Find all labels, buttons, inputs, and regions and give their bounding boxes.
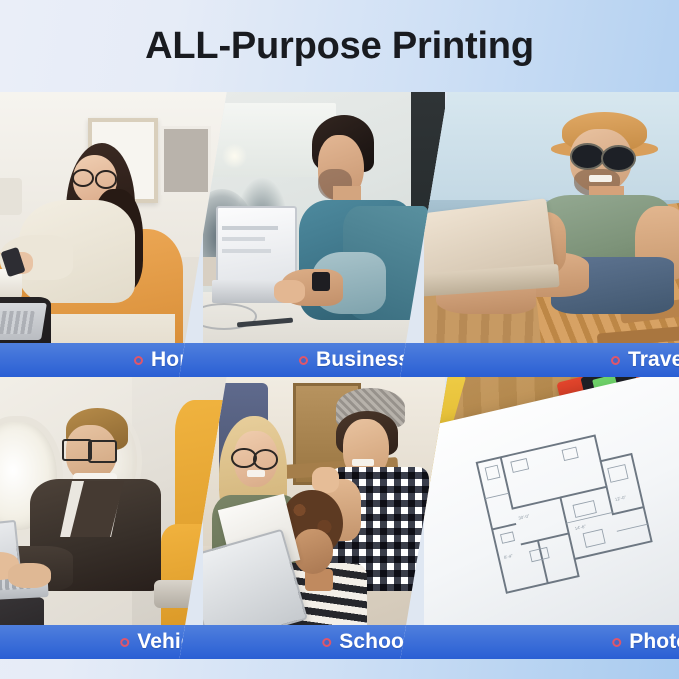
panel-label-school: School bbox=[340, 630, 411, 654]
panel-label-business: Business bbox=[316, 348, 410, 372]
caption-bar-business: Business bbox=[179, 343, 427, 377]
svg-text:30’-0”: 30’-0” bbox=[518, 513, 531, 521]
panel-label-travel: Travel bbox=[628, 348, 679, 372]
panel-photo-photo: 30’-0” 14’-6” 12’-0” 8’-4” bbox=[424, 377, 679, 659]
panel-row-bottom: Vehicle bbox=[0, 377, 679, 659]
ring-bullet-icon bbox=[134, 356, 143, 365]
ring-bullet-icon bbox=[323, 638, 332, 647]
panel-label-photo: Photo bbox=[629, 630, 679, 654]
svg-text:12’-0”: 12’-0” bbox=[614, 494, 627, 502]
scene-travel bbox=[424, 92, 679, 377]
caption-bar-travel: Travel bbox=[400, 343, 679, 377]
poster-stage: ALL-Purpose Printing bbox=[0, 0, 679, 679]
panel-travel[interactable]: Travel bbox=[400, 92, 679, 377]
svg-text:8’-4”: 8’-4” bbox=[504, 553, 514, 560]
panel-photo-inner: 30’-0” 14’-6” 12’-0” 8’-4” bbox=[424, 377, 679, 659]
caption-bar-school: School bbox=[179, 625, 427, 659]
svg-text:14’-6”: 14’-6” bbox=[574, 523, 587, 531]
panel-travel-inner bbox=[424, 92, 679, 377]
panel-travel-photo bbox=[424, 92, 679, 377]
caption-bar-photo: Photo bbox=[400, 625, 679, 659]
ring-bullet-icon bbox=[611, 356, 620, 365]
ring-bullet-icon bbox=[299, 356, 308, 365]
scene-photo: 30’-0” 14’-6” 12’-0” 8’-4” bbox=[424, 377, 679, 659]
panel-photo[interactable]: 30’-0” 14’-6” 12’-0” 8’-4” Photo bbox=[400, 377, 679, 659]
panel-row-top: Home bbox=[0, 92, 679, 377]
ring-bullet-icon bbox=[120, 638, 129, 647]
page-title-area: ALL-Purpose Printing bbox=[0, 0, 679, 92]
page-title: ALL-Purpose Printing bbox=[145, 25, 534, 68]
ring-bullet-icon bbox=[612, 638, 621, 647]
